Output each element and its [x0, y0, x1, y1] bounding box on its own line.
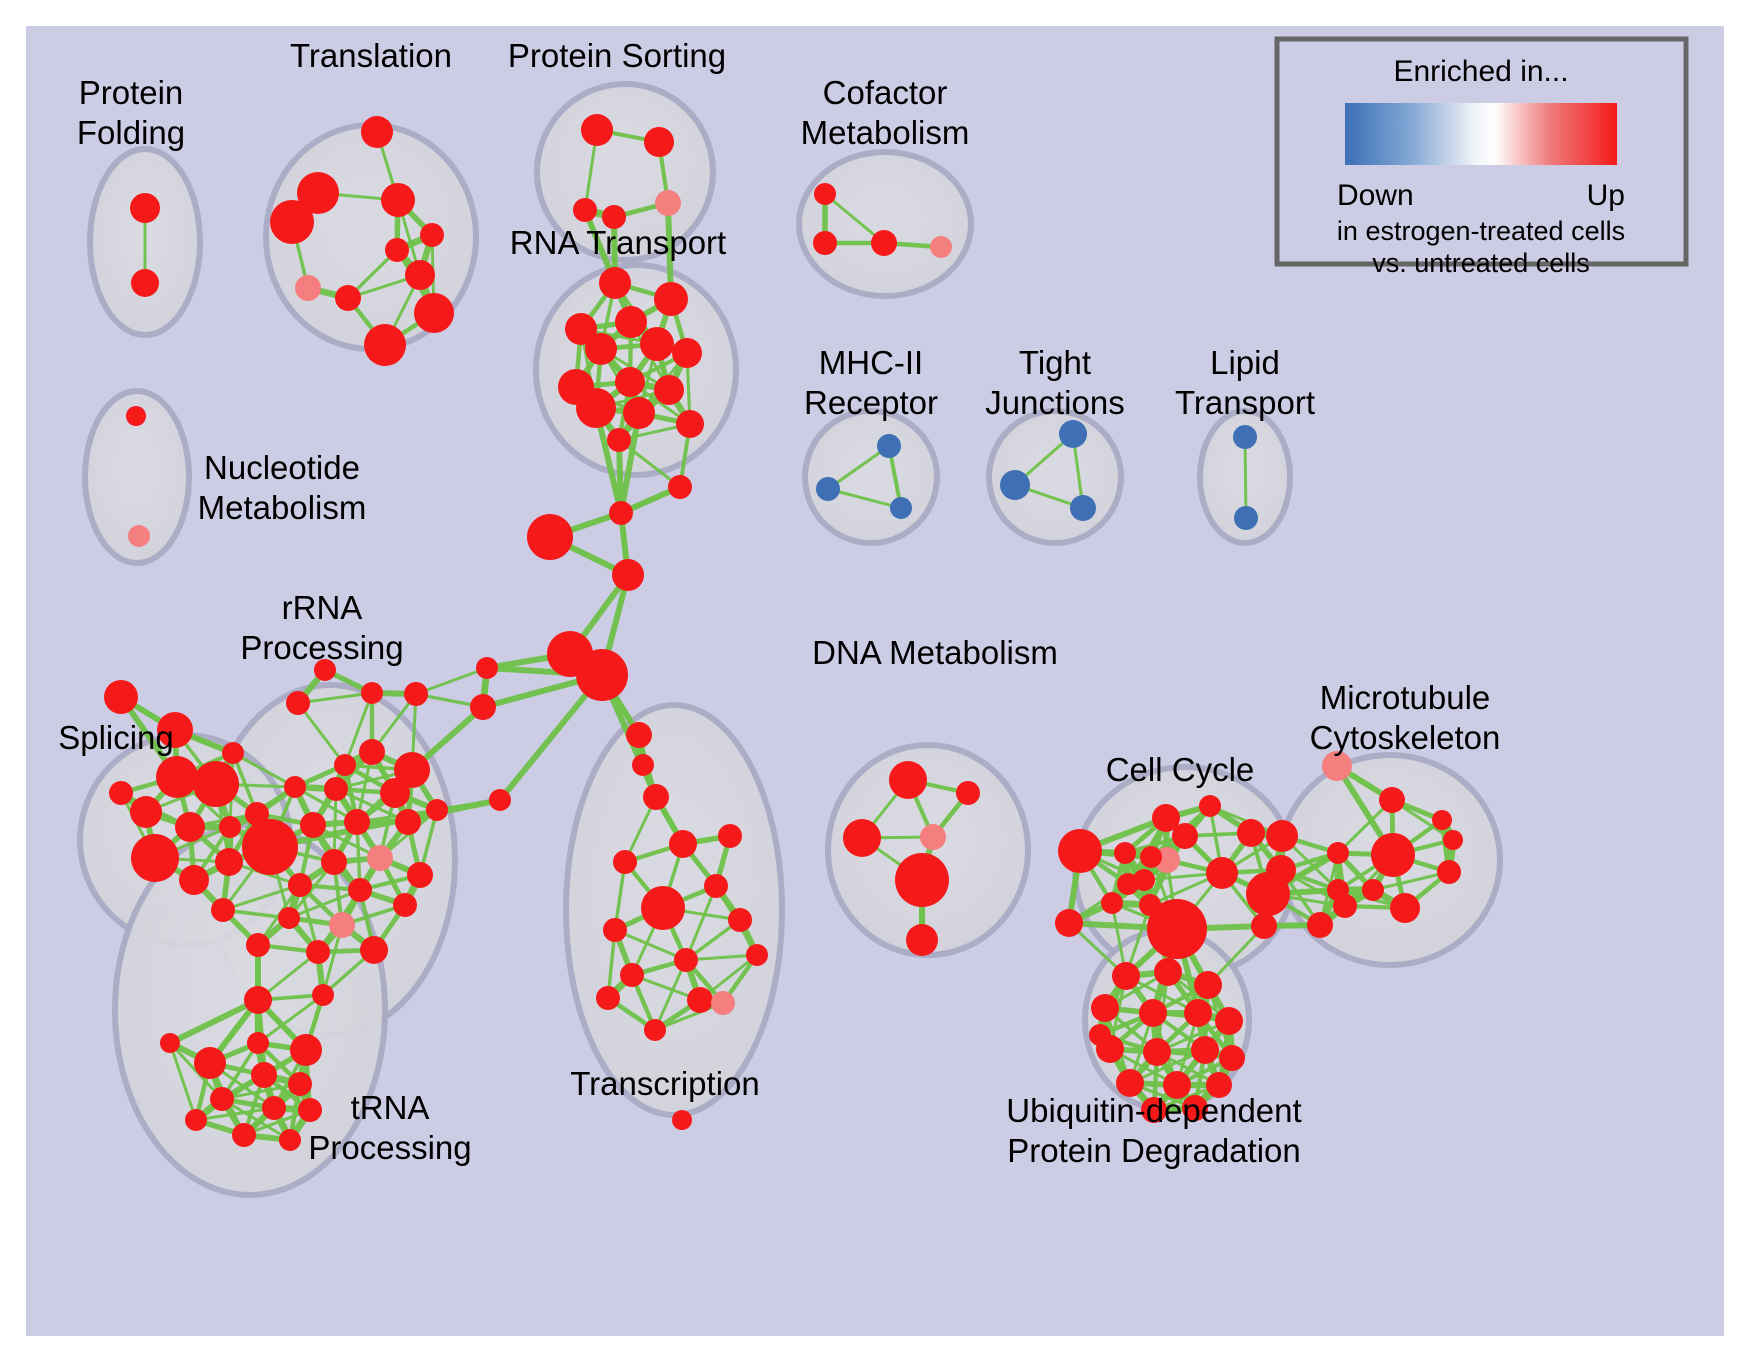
- network-node[interactable]: [126, 406, 146, 426]
- network-node[interactable]: [1184, 999, 1212, 1027]
- network-node[interactable]: [262, 1096, 286, 1120]
- network-node[interactable]: [295, 275, 321, 301]
- network-node[interactable]: [871, 230, 897, 256]
- network-node[interactable]: [335, 285, 361, 311]
- network-node[interactable]: [1266, 820, 1298, 852]
- network-node[interactable]: [1194, 971, 1222, 999]
- network-node[interactable]: [615, 367, 645, 397]
- network-node[interactable]: [687, 987, 713, 1013]
- network-node[interactable]: [364, 324, 406, 366]
- network-node[interactable]: [300, 812, 326, 838]
- network-node[interactable]: [247, 1032, 269, 1054]
- network-node[interactable]: [644, 1019, 666, 1041]
- network-node[interactable]: [246, 933, 270, 957]
- network-node[interactable]: [644, 127, 674, 157]
- network-node[interactable]: [654, 375, 684, 405]
- network-node[interactable]: [1432, 810, 1452, 830]
- network-node[interactable]: [704, 874, 728, 898]
- network-node[interactable]: [405, 260, 435, 290]
- network-node[interactable]: [298, 1098, 322, 1122]
- network-node[interactable]: [1307, 912, 1333, 938]
- network-node[interactable]: [607, 428, 631, 452]
- network-node[interactable]: [1154, 958, 1182, 986]
- network-node[interactable]: [156, 756, 198, 798]
- network-node[interactable]: [1091, 994, 1119, 1022]
- cluster-label-splicing: Splicing: [58, 719, 174, 756]
- network-node[interactable]: [626, 722, 652, 748]
- network-node[interactable]: [1000, 470, 1030, 500]
- network-node[interactable]: [476, 657, 498, 679]
- network-node[interactable]: [244, 986, 272, 1014]
- network-node[interactable]: [576, 649, 628, 701]
- network-node[interactable]: [674, 948, 698, 972]
- network-node[interactable]: [210, 1087, 234, 1111]
- network-node[interactable]: [1139, 999, 1167, 1027]
- network-node[interactable]: [527, 514, 573, 560]
- network-node[interactable]: [1133, 869, 1155, 891]
- network-node[interactable]: [620, 963, 644, 987]
- network-node[interactable]: [576, 388, 616, 428]
- network-node[interactable]: [286, 691, 310, 715]
- network-node[interactable]: [407, 862, 433, 888]
- network-node[interactable]: [623, 397, 655, 429]
- network-node[interactable]: [612, 559, 644, 591]
- network-node[interactable]: [1089, 1024, 1111, 1046]
- network-node[interactable]: [1101, 892, 1123, 914]
- cluster-label-protein-sorting: Protein Sorting: [508, 37, 726, 74]
- network-node[interactable]: [641, 886, 685, 930]
- network-node[interactable]: [251, 1062, 277, 1088]
- network-node[interactable]: [1140, 846, 1162, 868]
- network-node[interactable]: [232, 1123, 256, 1147]
- network-node[interactable]: [312, 984, 334, 1006]
- legend-caption-line1: in estrogen-treated cells: [1337, 216, 1625, 246]
- network-node[interactable]: [395, 809, 421, 835]
- network-node[interactable]: [668, 475, 692, 499]
- legend-caption-line2: vs. untreated cells: [1372, 248, 1590, 278]
- network-node[interactable]: [654, 282, 688, 316]
- network-node[interactable]: [1437, 860, 1461, 884]
- network-node[interactable]: [128, 525, 150, 547]
- network-node[interactable]: [288, 873, 312, 897]
- network-node[interactable]: [348, 878, 372, 902]
- network-node[interactable]: [130, 193, 160, 223]
- network-node[interactable]: [1215, 1007, 1243, 1035]
- network-node[interactable]: [906, 924, 938, 956]
- network-node[interactable]: [344, 809, 370, 835]
- network-node[interactable]: [270, 200, 314, 244]
- cluster-ellipse-mhc-ii: [805, 411, 937, 543]
- legend-color-bar: [1345, 103, 1617, 165]
- network-node[interactable]: [615, 306, 647, 338]
- network-node[interactable]: [1379, 787, 1405, 813]
- network-node[interactable]: [609, 501, 633, 525]
- network-node[interactable]: [426, 799, 448, 821]
- network-node[interactable]: [1251, 913, 1277, 939]
- network-node[interactable]: [1233, 425, 1257, 449]
- network-node[interactable]: [361, 682, 383, 704]
- network-node[interactable]: [728, 908, 752, 932]
- network-node[interactable]: [1362, 879, 1384, 901]
- network-node[interactable]: [1443, 830, 1463, 850]
- network-node[interactable]: [131, 834, 179, 882]
- network-node[interactable]: [746, 944, 768, 966]
- network-node[interactable]: [1070, 495, 1096, 521]
- network-node[interactable]: [890, 497, 912, 519]
- network-node[interactable]: [381, 183, 415, 217]
- network-node[interactable]: [573, 198, 597, 222]
- cluster-label-transcription: Transcription: [570, 1065, 760, 1102]
- network-node[interactable]: [1237, 819, 1265, 847]
- network-node[interactable]: [895, 853, 949, 907]
- network-node[interactable]: [306, 940, 330, 964]
- network-node[interactable]: [288, 1072, 312, 1096]
- network-node[interactable]: [130, 796, 162, 828]
- network-node[interactable]: [242, 819, 298, 875]
- network-node[interactable]: [385, 238, 409, 262]
- network-node[interactable]: [194, 1047, 226, 1079]
- network-node[interactable]: [278, 907, 300, 929]
- network-node[interactable]: [1219, 1045, 1245, 1071]
- network-node[interactable]: [889, 761, 927, 799]
- network-node[interactable]: [956, 781, 980, 805]
- cluster-label-dna-metabolism: DNA Metabolism: [812, 634, 1058, 671]
- network-node[interactable]: [920, 824, 946, 850]
- network-node[interactable]: [1112, 962, 1140, 990]
- network-node[interactable]: [640, 327, 674, 361]
- network-node[interactable]: [329, 912, 355, 938]
- network-node[interactable]: [596, 986, 620, 1010]
- network-node[interactable]: [718, 824, 742, 848]
- network-node[interactable]: [222, 742, 244, 764]
- network-node[interactable]: [1390, 893, 1420, 923]
- cluster-label-cell-cycle: Cell Cycle: [1106, 751, 1255, 788]
- network-node[interactable]: [599, 267, 631, 299]
- network-node[interactable]: [585, 333, 617, 365]
- network-node[interactable]: [877, 434, 901, 458]
- network-node[interactable]: [361, 116, 393, 148]
- network-node[interactable]: [1147, 899, 1207, 959]
- cluster-label-translation: Translation: [290, 37, 452, 74]
- network-node[interactable]: [672, 1110, 692, 1130]
- network-node[interactable]: [643, 784, 669, 810]
- network-node[interactable]: [1055, 909, 1083, 937]
- network-node[interactable]: [185, 1109, 207, 1131]
- network-node[interactable]: [1206, 857, 1238, 889]
- network-node[interactable]: [843, 819, 881, 857]
- network-node[interactable]: [160, 1033, 180, 1053]
- network-node[interactable]: [104, 680, 138, 714]
- enrichment-network-figure: ProteinFoldingTranslationProtein Sorting…: [0, 0, 1750, 1360]
- legend-high-label: Up: [1587, 179, 1625, 212]
- network-node[interactable]: [711, 991, 735, 1015]
- figure-root: ProteinFoldingTranslationProtein Sorting…: [0, 0, 1750, 1360]
- network-node[interactable]: [489, 789, 511, 811]
- network-node[interactable]: [669, 830, 697, 858]
- network-node[interactable]: [179, 865, 209, 895]
- network-node[interactable]: [393, 893, 417, 917]
- network-node[interactable]: [324, 777, 348, 801]
- legend-title: Enriched in...: [1393, 55, 1568, 88]
- network-node[interactable]: [632, 754, 654, 776]
- network-node[interactable]: [219, 816, 241, 838]
- network-node[interactable]: [603, 918, 627, 942]
- network-node[interactable]: [211, 898, 235, 922]
- network-node[interactable]: [334, 754, 356, 776]
- network-node[interactable]: [1246, 872, 1290, 916]
- network-node[interactable]: [175, 812, 205, 842]
- network-node[interactable]: [814, 183, 836, 205]
- edge: [1245, 437, 1246, 518]
- network-node[interactable]: [1234, 506, 1258, 530]
- network-node[interactable]: [672, 338, 702, 368]
- network-node[interactable]: [193, 761, 239, 807]
- network-node[interactable]: [581, 114, 613, 146]
- network-node[interactable]: [131, 269, 159, 297]
- network-node[interactable]: [290, 1034, 322, 1066]
- legend-low-label: Down: [1337, 179, 1414, 212]
- cluster-label-rna-transport: RNA Transport: [510, 224, 726, 261]
- network-node[interactable]: [404, 682, 428, 706]
- network-node[interactable]: [1371, 833, 1415, 877]
- network-node[interactable]: [215, 848, 243, 876]
- legend: Enriched in... Down Up in estrogen-treat…: [1277, 39, 1686, 278]
- network-node[interactable]: [321, 849, 347, 875]
- network-node[interactable]: [470, 694, 496, 720]
- network-node[interactable]: [1058, 829, 1102, 873]
- network-node[interactable]: [1199, 795, 1221, 817]
- network-node[interactable]: [284, 776, 306, 798]
- network-node[interactable]: [109, 781, 133, 805]
- network-node[interactable]: [816, 477, 840, 501]
- network-node[interactable]: [613, 850, 637, 874]
- network-node[interactable]: [414, 293, 454, 333]
- network-node[interactable]: [1333, 894, 1357, 918]
- network-node[interactable]: [1059, 420, 1087, 448]
- network-node[interactable]: [279, 1129, 301, 1151]
- network-node[interactable]: [813, 231, 837, 255]
- network-node[interactable]: [655, 190, 681, 216]
- network-node[interactable]: [359, 739, 385, 765]
- network-node[interactable]: [1172, 823, 1198, 849]
- network-node[interactable]: [1191, 1036, 1219, 1064]
- network-node[interactable]: [367, 845, 393, 871]
- network-node[interactable]: [930, 236, 952, 258]
- network-node[interactable]: [1114, 842, 1136, 864]
- network-node[interactable]: [420, 223, 444, 247]
- network-node[interactable]: [1327, 842, 1349, 864]
- network-node[interactable]: [380, 778, 410, 808]
- network-node[interactable]: [1143, 1038, 1171, 1066]
- network-node[interactable]: [360, 936, 388, 964]
- network-node[interactable]: [676, 410, 704, 438]
